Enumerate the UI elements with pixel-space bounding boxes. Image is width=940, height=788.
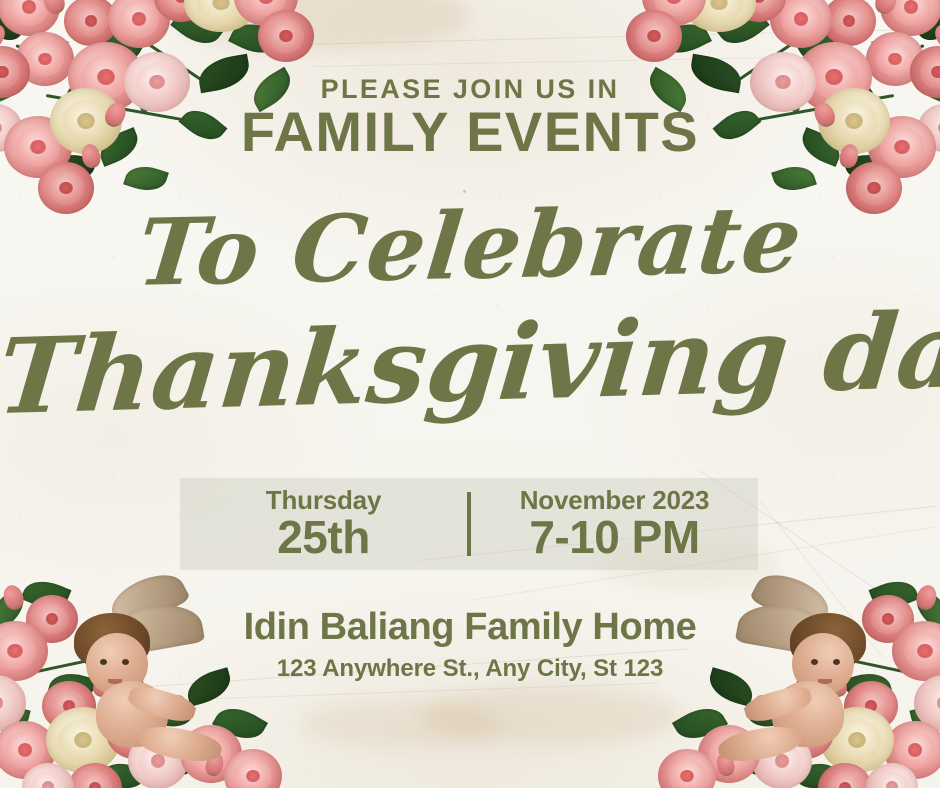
date-column: Thursday 25th — [180, 487, 467, 561]
poster-text-content: PLEASE JOIN US IN FAMILY EVENTS To Celeb… — [0, 0, 940, 788]
time-range: 7-10 PM — [529, 514, 699, 561]
venue-name: Idin Baliang Family Home — [0, 608, 940, 646]
script-line-thanksgiving-day: Thanksgiving day — [0, 299, 940, 429]
script-line-to-celebrate: To Celebrate — [0, 190, 940, 302]
event-headline: FAMILY EVENTS — [0, 104, 940, 160]
day-number: 25th — [277, 514, 370, 561]
invitation-kicker: PLEASE JOIN US IN — [0, 76, 940, 103]
venue-address: 123 Anywhere St., Any City, St 123 — [0, 657, 940, 681]
time-column: November 2023 7-10 PM — [471, 487, 758, 561]
date-time-band: Thursday 25th November 2023 7-10 PM — [180, 478, 758, 570]
day-name: Thursday — [266, 487, 381, 514]
thanksgiving-invitation-poster: PLEASE JOIN US IN FAMILY EVENTS To Celeb… — [0, 0, 940, 788]
month-year: November 2023 — [520, 487, 710, 514]
